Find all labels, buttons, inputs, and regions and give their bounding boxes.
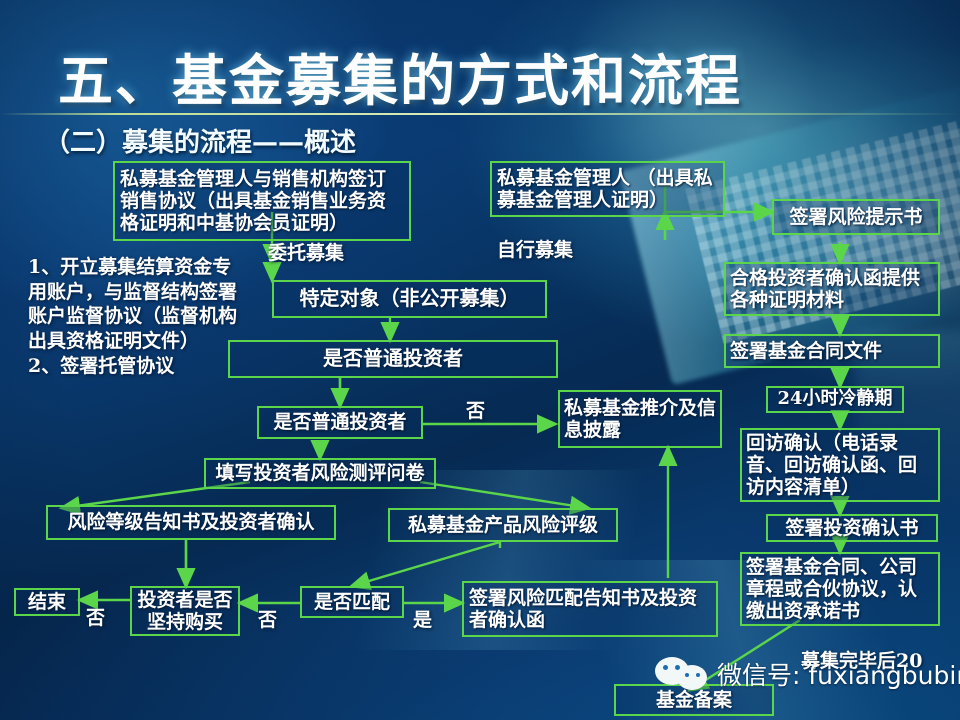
flow-box-callback-confirm[interactable]: 回访确认（电话录音、回访确认函、回访内容清单） — [740, 428, 940, 502]
edge-label-no-3: 否 — [86, 603, 105, 630]
flow-box-label: 私募基金推介及信息披露 — [564, 397, 716, 441]
edge-label-entrusted: 委托募集 — [268, 238, 344, 265]
flow-box-label: 是否普通投资者 — [323, 347, 463, 370]
flow-box-fund-contract-file[interactable]: 签署基金合同文件 — [724, 334, 940, 368]
flow-box-label: 填写投资者风险测评问卷 — [215, 462, 424, 484]
flow-box-qualified-investor[interactable]: 合格投资者确认函提供各种证明材料 — [724, 262, 940, 316]
flow-box-investor-insist[interactable]: 投资者是否坚持购买 — [130, 586, 240, 636]
flow-box-is-ordinary-investor[interactable]: 是否普通投资者 — [257, 406, 423, 439]
flow-box-manager-certificate[interactable]: 私募基金管理人 （出具私募基金管理人证明） — [490, 161, 725, 217]
flow-box-label: 结束 — [28, 591, 66, 613]
flow-box-label: 私募基金产品风险评级 — [408, 514, 598, 536]
flow-box-cooling-period[interactable]: 24小时冷静期 — [766, 386, 904, 413]
flow-box-contract-articles[interactable]: 签署基金合同、公司章程或合伙协议，认缴出资承诺书 — [740, 552, 940, 626]
flow-box-risk-match-notice[interactable]: 签署风险匹配告知书及投资者确认函 — [462, 581, 718, 637]
flow-box-end[interactable]: 结束 — [14, 588, 80, 616]
flow-box-label: 签署风险提示书 — [789, 206, 922, 228]
flow-box-specific-object[interactable]: 特定对象（非公开募集） — [272, 280, 547, 318]
flow-box-label: 是否普通投资者 — [273, 411, 406, 433]
edge-label-no-2: 否 — [258, 605, 277, 632]
edge-label-no-1: 否 — [466, 396, 485, 423]
wechat-id-text: 微信号: fuxiangbubin — [717, 656, 960, 692]
flow-box-investor-survey[interactable]: 是否普通投资者 — [228, 340, 558, 378]
flow-box-label: 签署基金合同、公司章程或合伙协议，认缴出资承诺书 — [746, 556, 934, 622]
edge-label-yes-1: 是 — [413, 605, 432, 632]
flow-box-risk-questionnaire[interactable]: 填写投资者风险测评问卷 — [204, 458, 436, 489]
flow-box-label: 签署风险匹配告知书及投资者确认函 — [469, 587, 711, 631]
flow-box-label: 签署基金合同文件 — [730, 340, 882, 362]
flow-box-fund-promotion[interactable]: 私募基金推介及信息披露 — [558, 390, 722, 448]
flow-box-label: 24小时冷静期 — [777, 389, 892, 410]
flow-box-label: 私募基金管理人与销售机构签订销售协议（出具基金销售业务资格证明和中基协会员证明） — [120, 168, 404, 234]
flow-box-product-risk-rating[interactable]: 私募基金产品风险评级 — [388, 508, 618, 542]
flow-box-label: 风险等级告知书及投资者确认 — [67, 511, 314, 533]
slide-canvas: 五、基金募集的方式和流程 （二）募集的流程——概述 — [0, 0, 960, 720]
edge-label-self-raise: 自行募集 — [497, 235, 573, 262]
flow-box-label: 特定对象（非公开募集） — [300, 287, 520, 310]
flow-box-is-matched[interactable]: 是否匹配 — [300, 586, 404, 618]
flow-box-label: 回访确认（电话录音、回访确认函、回访内容清单） — [746, 432, 934, 498]
flow-box-label: 签署投资确认书 — [785, 517, 918, 539]
flow-box-risk-disclosure-sign[interactable]: 签署风险提示书 — [772, 199, 940, 235]
flow-box-label: 私募基金管理人 （出具私募基金管理人证明） — [497, 167, 718, 211]
flow-box-investment-confirm[interactable]: 签署投资确认书 — [766, 514, 938, 542]
wechat-icon — [655, 655, 711, 693]
flow-box-label: 是否匹配 — [314, 591, 390, 613]
flow-box-sales-agreement[interactable]: 私募基金管理人与销售机构签订销售协议（出具基金销售业务资格证明和中基协会员证明） — [113, 161, 411, 241]
flow-box-risk-level-notice[interactable]: 风险等级告知书及投资者确认 — [46, 505, 336, 540]
wechat-watermark: 微信号: fuxiangbubin — [655, 655, 960, 693]
left-note-text: 1、开立募集结算资金专用账户，与监督结构签署账户监督协议（监督机构出具资格证明文… — [28, 255, 238, 378]
flow-box-label: 合格投资者确认函提供各种证明材料 — [730, 267, 934, 311]
flow-box-label: 投资者是否坚持购买 — [132, 589, 238, 633]
